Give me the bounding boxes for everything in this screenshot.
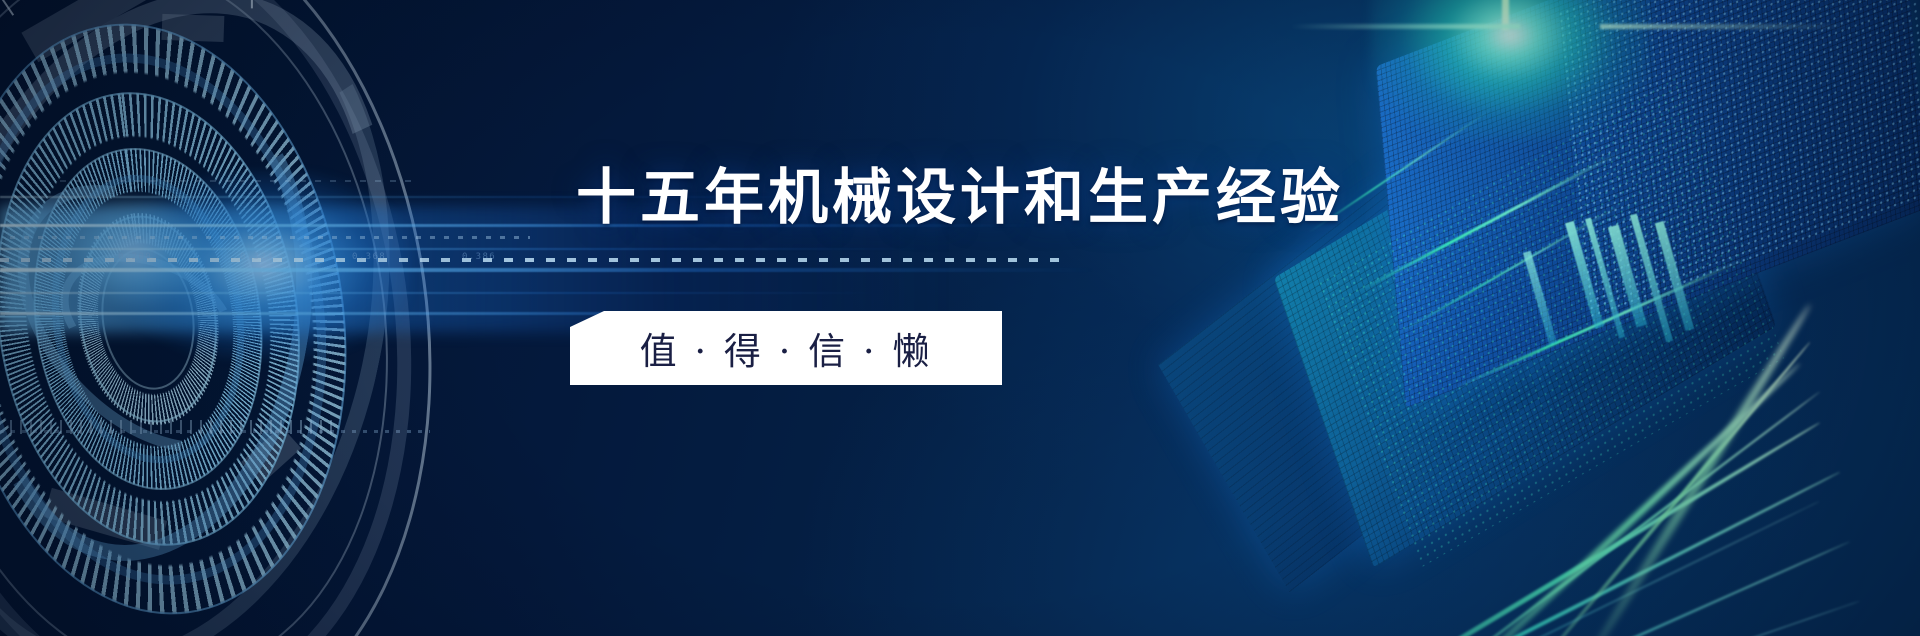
data-dash-line-1 <box>0 258 1060 262</box>
light-beam-line-3 <box>0 268 1190 272</box>
circuit-chip-graphic <box>1040 0 1920 636</box>
light-beam-line-2 <box>0 248 1010 250</box>
hud-micro-label-3: 0.386 <box>462 252 496 262</box>
hero-banner: 0.200 0.324 0.368 0.386 <box>0 0 1920 636</box>
hud-micro-label-1: 0.324 <box>240 252 274 262</box>
data-dash-line-2 <box>10 236 530 239</box>
hud-micro-tick-strip <box>10 420 340 434</box>
page-title: 十五年机械设计和生产经验 <box>0 168 1920 228</box>
hud-micro-label-2: 0.368 <box>352 252 386 262</box>
node-spike-right <box>1600 24 1850 29</box>
hud-micro-label-0: 0.200 <box>118 252 152 262</box>
tagline-text: 值 · 得 · 信 · 懒 <box>570 311 1002 385</box>
light-beam-line-4 <box>0 292 960 294</box>
node-spike-left <box>1290 24 1520 29</box>
hud-bracket-2 <box>133 0 253 8</box>
circuit-node-glow <box>1370 0 1650 140</box>
tagline-box: 值 · 得 · 信 · 懒 <box>570 311 1002 385</box>
